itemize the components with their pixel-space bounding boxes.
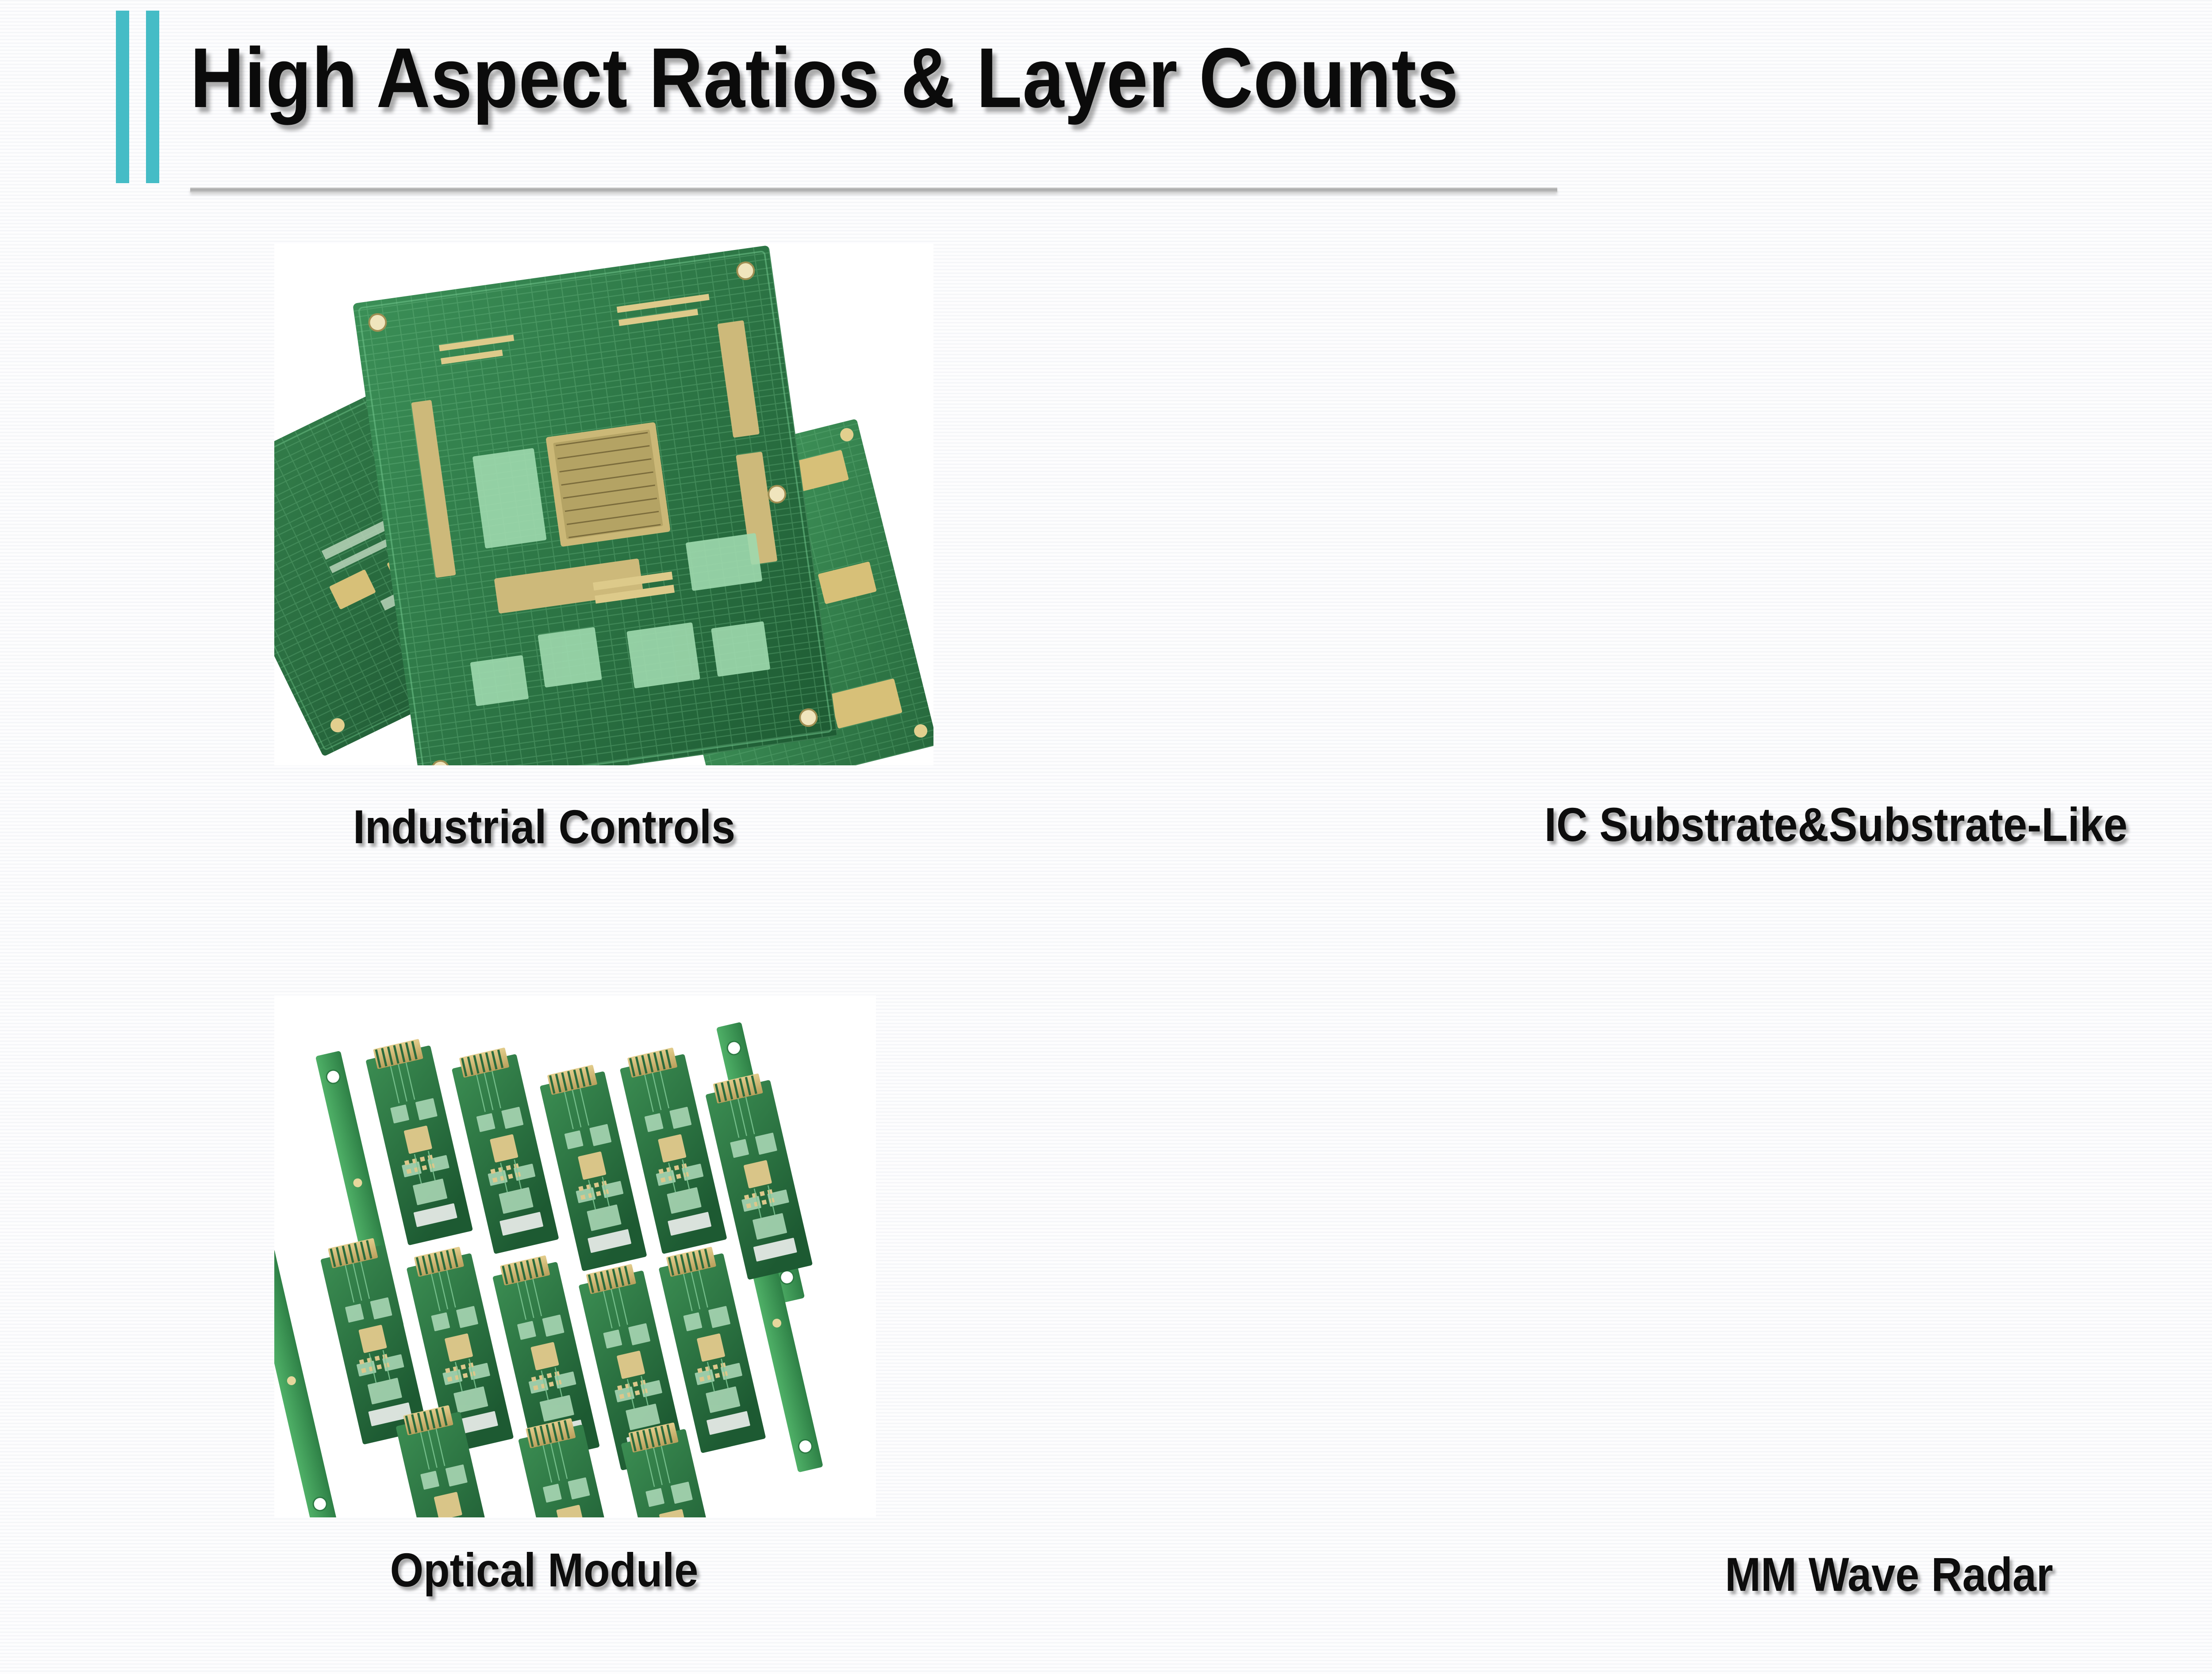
product-caption-ic-substrate: IC Substrate&Substrate-Like — [1346, 801, 2212, 849]
product-grid: Industrial Controls — [0, 208, 2212, 1674]
title-block: High Aspect Ratios & Layer Counts — [0, 0, 1637, 208]
slide-canvas: High Aspect Ratios & Layer Counts — [0, 0, 2212, 1674]
page-title: High Aspect Ratios & Layer Counts — [190, 35, 1459, 120]
product-card-ic-substrate[interactable]: 金倍克电子 — [1115, 208, 2203, 929]
title-divider-rule — [190, 188, 1557, 192]
product-card-optical-module[interactable]: Optical Module — [0, 987, 1088, 1674]
product-card-mm-wave-radar[interactable]: MM Wave Radar — [1115, 987, 2203, 1674]
product-caption-industrial-controls: Industrial Controls — [54, 803, 1034, 851]
product-caption-optical-module: Optical Module — [54, 1546, 1034, 1594]
product-photo-optical-module — [274, 995, 876, 1517]
product-caption-mm-wave-radar: MM Wave Radar — [1399, 1551, 2212, 1598]
product-photo-industrial-controls — [274, 243, 933, 765]
accent-bar-right — [146, 11, 159, 183]
product-card-industrial-controls[interactable]: Industrial Controls — [0, 221, 1088, 942]
accent-bar-left — [116, 11, 129, 183]
